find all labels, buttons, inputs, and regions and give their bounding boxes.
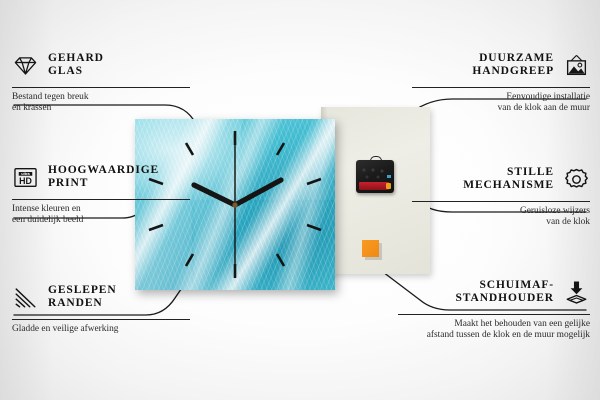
feature-title: GESLEPEN RANDEN <box>48 284 117 310</box>
feature-header: HD ultra HOOGWAARDIGE PRINT <box>12 160 190 194</box>
battery <box>359 182 389 190</box>
feature-subtitle-line1: Geruisloze wijzers <box>412 206 590 217</box>
feature-title-line1: GEHARD <box>48 52 104 65</box>
feature-subtitle-line2: van de klok aan de muur <box>412 103 590 114</box>
clock-movement <box>356 156 394 193</box>
feature-title-line1: GESLEPEN <box>48 284 117 297</box>
feature-header: SCHUIMAF- STANDHOUDER <box>398 275 590 309</box>
feature-subtitle-line1: Eenvoudige installatie <box>412 92 590 103</box>
feature-stille-mechanisme: STILLE MECHANISME Geruisloze wijzers van… <box>412 162 590 229</box>
beveled-edges-icon <box>12 284 39 311</box>
feature-title: GEHARD GLAS <box>48 52 104 78</box>
feature-title-line2: HANDGREEP <box>472 65 554 78</box>
feature-subtitle: Geruisloze wijzers van de klok <box>412 206 590 229</box>
feature-geslepen-randen: GESLEPEN RANDEN Gladde en veilige afwerk… <box>12 280 190 335</box>
feature-subtitle-line2: en krassen <box>12 103 190 114</box>
divider <box>412 201 590 202</box>
feature-subtitle: Bestand tegen breuk en krassen <box>12 92 190 115</box>
feature-title-line2: PRINT <box>48 177 159 190</box>
feature-header: GESLEPEN RANDEN <box>12 280 190 314</box>
divider <box>12 87 190 88</box>
feature-title-line2: GLAS <box>48 65 104 78</box>
feature-header: DUURZAME HANDGREEP <box>412 48 590 82</box>
feature-subtitle-line2: een duidelijk beeld <box>12 215 190 226</box>
picture-frame-hanger-icon <box>563 52 590 79</box>
feature-subtitle-line2: afstand tussen de klok en de muur mogeli… <box>398 330 590 341</box>
feature-subtitle: Gladde en veilige afwerking <box>12 324 190 335</box>
feature-gehard-glas: GEHARD GLAS Bestand tegen breuk en krass… <box>12 48 190 115</box>
feature-title-line1: SCHUIMAF- <box>455 279 554 292</box>
feature-title-line2: RANDEN <box>48 297 117 310</box>
diamond-icon <box>12 52 39 79</box>
movement-body <box>356 160 394 193</box>
feature-header: STILLE MECHANISME <box>412 162 590 196</box>
feature-title-line1: DUURZAME <box>472 52 554 65</box>
feature-title-line2: MECHANISME <box>463 179 554 192</box>
feature-header: GEHARD GLAS <box>12 48 190 82</box>
movement-detail <box>360 167 390 179</box>
feature-title-line2: STANDHOUDER <box>455 292 554 305</box>
gear-icon <box>563 166 590 193</box>
feature-title: STILLE MECHANISME <box>463 166 554 192</box>
svg-text:ultra: ultra <box>21 171 30 176</box>
clock-center-cap <box>232 202 237 207</box>
product-feature-infographic: GEHARD GLAS Bestand tegen breuk en krass… <box>0 0 600 400</box>
feature-title-line1: STILLE <box>463 166 554 179</box>
hour-hand <box>194 185 235 205</box>
divider <box>398 314 590 315</box>
feature-schuimafstandhouder: SCHUIMAF- STANDHOUDER Maakt het behouden… <box>398 275 590 342</box>
movement-contact <box>387 175 391 178</box>
foam-spacer-pad <box>362 240 379 257</box>
feature-subtitle-line2: van de klok <box>412 217 590 228</box>
divider <box>12 199 190 200</box>
divider <box>412 87 590 88</box>
feature-title: HOOGWAARDIGE PRINT <box>48 164 159 190</box>
feature-subtitle: Maakt het behouden van een gelijke afsta… <box>398 319 590 342</box>
feature-hoogwaardige-print: HD ultra HOOGWAARDIGE PRINT Intense kleu… <box>12 160 190 227</box>
minute-hand <box>235 180 281 205</box>
feature-subtitle-line1: Intense kleuren en <box>12 204 190 215</box>
feature-duurzame-handgreep: DUURZAME HANDGREEP Eenvoudige installati… <box>412 48 590 115</box>
divider <box>12 319 190 320</box>
feature-title-line1: HOOGWAARDIGE <box>48 164 159 177</box>
svg-text:HD: HD <box>19 175 32 185</box>
feature-subtitle-line1: Bestand tegen breuk <box>12 92 190 103</box>
foam-spacer-icon <box>563 279 590 306</box>
ultra-hd-icon: HD ultra <box>12 164 39 191</box>
feature-subtitle: Eenvoudige installatie van de klok aan d… <box>412 92 590 115</box>
feature-subtitle-line1: Gladde en veilige afwerking <box>12 324 190 335</box>
feature-subtitle: Intense kleuren en een duidelijk beeld <box>12 204 190 227</box>
feature-title: SCHUIMAF- STANDHOUDER <box>455 279 554 305</box>
feature-title: DUURZAME HANDGREEP <box>472 52 554 78</box>
feature-subtitle-line1: Maakt het behouden van een gelijke <box>398 319 590 330</box>
